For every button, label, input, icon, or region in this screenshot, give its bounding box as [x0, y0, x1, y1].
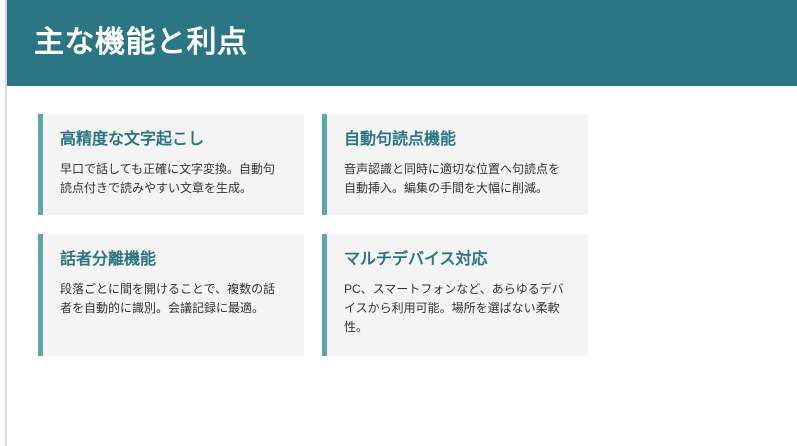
feature-card[interactable]: 話者分離機能 段落ごとに間を開けることで、複数の話者を自動的に識別。会議記録に最…: [38, 234, 304, 356]
page-title: 主な機能と利点: [34, 22, 248, 64]
page-container: 主な機能と利点 高精度な文字起こし 早口で話しても正確に文字変換。自動句読点付き…: [7, 0, 797, 446]
feature-card[interactable]: 自動句読点機能 音声認識と同時に適切な位置へ句読点を自動挿入。編集の手間を大幅に…: [322, 114, 588, 215]
feature-card-body: 音声認識と同時に適切な位置へ句読点を自動挿入。編集の手間を大幅に削減。: [344, 160, 570, 198]
feature-card-body: 段落ごとに間を開けることで、複数の話者を自動的に識別。会議記録に最適。: [60, 280, 286, 318]
feature-card-title: 話者分離機能: [60, 250, 286, 270]
page-left-edge-rule: [5, 0, 7, 446]
feature-card[interactable]: 高精度な文字起こし 早口で話しても正確に文字変換。自動句読点付きで読みやすい文章…: [38, 114, 304, 215]
feature-card-body: PC、スマートフォンなど、あらゆるデバイスから利用可能。場所を選ばない柔軟性。: [344, 280, 570, 337]
feature-card[interactable]: マルチデバイス対応 PC、スマートフォンなど、あらゆるデバイスから利用可能。場所…: [322, 234, 588, 356]
feature-card-title: 自動句読点機能: [344, 130, 570, 150]
feature-card-title: 高精度な文字起こし: [60, 130, 286, 150]
header-banner: 主な機能と利点: [7, 0, 797, 86]
feature-cards-grid: 高精度な文字起こし 早口で話しても正確に文字変換。自動句読点付きで読みやすい文章…: [38, 114, 588, 356]
feature-card-title: マルチデバイス対応: [344, 250, 570, 270]
feature-cards-row-2: 話者分離機能 段落ごとに間を開けることで、複数の話者を自動的に識別。会議記録に最…: [38, 234, 588, 356]
feature-cards-row-1: 高精度な文字起こし 早口で話しても正確に文字変換。自動句読点付きで読みやすい文章…: [38, 114, 588, 215]
feature-card-body: 早口で話しても正確に文字変換。自動句読点付きで読みやすい文章を生成。: [60, 160, 286, 198]
